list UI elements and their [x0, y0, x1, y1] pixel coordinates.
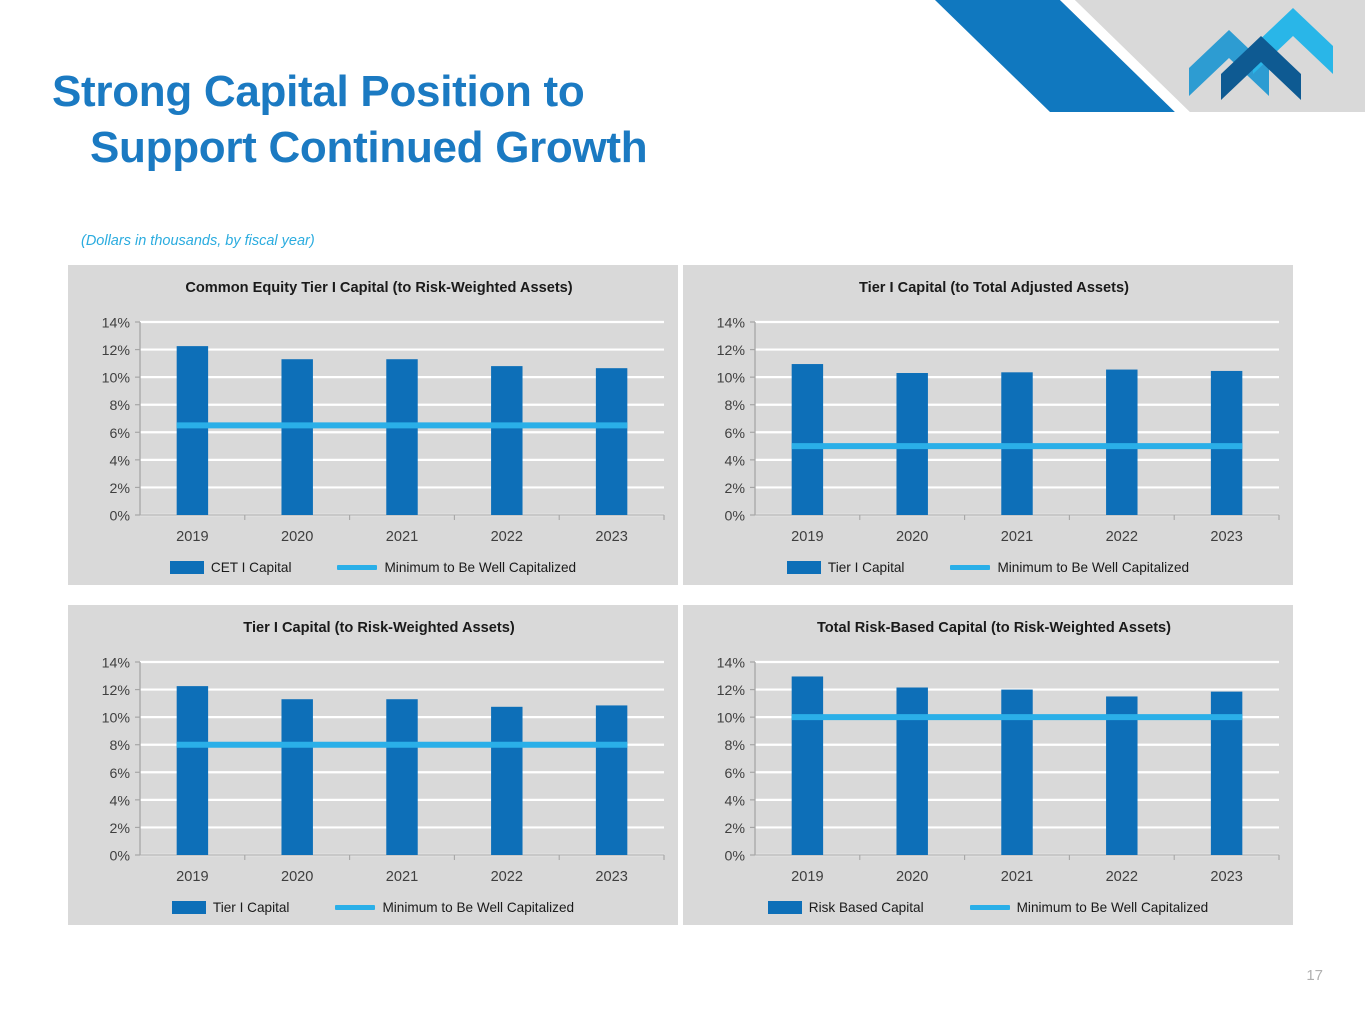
legend-item-bar-series[interactable]: Tier I Capital — [787, 560, 905, 575]
chart-bar — [386, 699, 417, 855]
chart-panel-total-risk-based: Total Risk-Based Capital (to Risk-Weight… — [683, 605, 1293, 925]
x-axis-category-label: 2023 — [1210, 529, 1242, 545]
y-axis-tick-label: 14% — [102, 316, 131, 332]
chart-legend: Tier I CapitalMinimum to Be Well Capital… — [683, 560, 1293, 575]
legend-bar-label: Risk Based Capital — [809, 900, 924, 915]
chart-bar — [281, 359, 312, 515]
legend-bar-swatch-icon — [768, 901, 802, 914]
company-logo — [1187, 6, 1337, 102]
chart-bar — [792, 676, 823, 855]
chart-bar — [792, 364, 823, 515]
legend-line-label: Minimum to Be Well Capitalized — [1017, 900, 1209, 915]
y-axis-tick-label: 0% — [724, 509, 745, 525]
y-axis-tick-label: 4% — [109, 793, 130, 809]
y-axis-tick-label: 8% — [109, 398, 130, 414]
chart-plot-area: 0%2%4%6%8%10%12%14%20192020202120222023 — [683, 265, 1293, 585]
chart-legend: CET I CapitalMinimum to Be Well Capitali… — [68, 560, 678, 575]
x-axis-category-label: 2020 — [896, 869, 928, 885]
y-axis-tick-label: 14% — [717, 316, 746, 332]
chart-bar — [1211, 371, 1242, 515]
legend-item-bar-series[interactable]: Tier I Capital — [172, 900, 290, 915]
y-axis-tick-label: 10% — [717, 711, 746, 727]
x-axis-category-label: 2019 — [176, 529, 208, 545]
legend-item-threshold-series[interactable]: Minimum to Be Well Capitalized — [950, 560, 1189, 575]
y-axis-tick-label: 0% — [109, 509, 130, 525]
y-axis-tick-label: 6% — [109, 426, 130, 442]
chart-legend: Tier I CapitalMinimum to Be Well Capital… — [68, 900, 678, 915]
y-axis-tick-label: 12% — [717, 343, 746, 359]
page-title: Strong Capital Position to Support Conti… — [52, 64, 872, 177]
legend-bar-label: CET I Capital — [211, 560, 292, 575]
chart-bar — [596, 705, 627, 855]
y-axis-tick-label: 6% — [109, 766, 130, 782]
chart-legend: Risk Based CapitalMinimum to Be Well Cap… — [683, 900, 1293, 915]
y-axis-tick-label: 14% — [102, 656, 131, 672]
y-axis-tick-label: 6% — [724, 766, 745, 782]
x-axis-category-label: 2021 — [1001, 529, 1033, 545]
legend-item-threshold-series[interactable]: Minimum to Be Well Capitalized — [970, 900, 1209, 915]
y-axis-tick-label: 10% — [102, 371, 131, 387]
chart-plot-area: 0%2%4%6%8%10%12%14%20192020202120222023 — [68, 605, 678, 925]
x-axis-category-label: 2019 — [176, 869, 208, 885]
y-axis-tick-label: 12% — [102, 343, 131, 359]
legend-line-swatch-icon — [970, 905, 1010, 910]
legend-line-label: Minimum to Be Well Capitalized — [382, 900, 574, 915]
chart-panel-cet1-risk-weighted: Common Equity Tier I Capital (to Risk-We… — [68, 265, 678, 585]
y-axis-tick-label: 10% — [717, 371, 746, 387]
chart-plot-area: 0%2%4%6%8%10%12%14%20192020202120222023 — [683, 605, 1293, 925]
x-axis-category-label: 2020 — [281, 869, 313, 885]
y-axis-tick-label: 10% — [102, 711, 131, 727]
x-axis-category-label: 2019 — [791, 529, 823, 545]
y-axis-tick-label: 0% — [109, 849, 130, 865]
x-axis-category-label: 2022 — [1106, 869, 1138, 885]
y-axis-tick-label: 2% — [109, 821, 130, 837]
y-axis-tick-label: 8% — [109, 738, 130, 754]
logo-chevrons-svg — [1187, 6, 1337, 102]
x-axis-category-label: 2021 — [1001, 869, 1033, 885]
x-axis-category-label: 2021 — [386, 529, 418, 545]
x-axis-category-label: 2023 — [595, 529, 627, 545]
chart-bar — [1106, 370, 1137, 515]
legend-bar-label: Tier I Capital — [828, 560, 905, 575]
chart-bar — [596, 368, 627, 515]
legend-line-swatch-icon — [335, 905, 375, 910]
y-axis-tick-label: 4% — [109, 453, 130, 469]
x-axis-category-label: 2022 — [491, 529, 523, 545]
units-subtitle: (Dollars in thousands, by fiscal year) — [81, 233, 315, 249]
chart-bar — [281, 699, 312, 855]
y-axis-tick-label: 8% — [724, 398, 745, 414]
y-axis-tick-label: 0% — [724, 849, 745, 865]
x-axis-category-label: 2022 — [1106, 529, 1138, 545]
page-number: 17 — [1306, 967, 1323, 984]
chart-bar — [491, 366, 522, 515]
title-line-2: Support Continued Growth — [52, 120, 872, 176]
legend-line-label: Minimum to Be Well Capitalized — [997, 560, 1189, 575]
chart-bar — [386, 359, 417, 515]
chart-bar — [896, 688, 927, 855]
y-axis-tick-label: 12% — [717, 683, 746, 699]
chart-bar — [491, 707, 522, 855]
x-axis-category-label: 2023 — [1210, 869, 1242, 885]
y-axis-tick-label: 2% — [724, 481, 745, 497]
legend-item-threshold-series[interactable]: Minimum to Be Well Capitalized — [337, 560, 576, 575]
chart-bar — [177, 346, 208, 515]
chart-bar — [177, 686, 208, 855]
legend-bar-label: Tier I Capital — [213, 900, 290, 915]
chart-panel-tier1-total-adjusted: Tier I Capital (to Total Adjusted Assets… — [683, 265, 1293, 585]
x-axis-category-label: 2020 — [896, 529, 928, 545]
chart-bar — [1106, 696, 1137, 855]
legend-line-swatch-icon — [950, 565, 990, 570]
y-axis-tick-label: 14% — [717, 656, 746, 672]
x-axis-category-label: 2021 — [386, 869, 418, 885]
y-axis-tick-label: 4% — [724, 453, 745, 469]
legend-item-bar-series[interactable]: Risk Based Capital — [768, 900, 924, 915]
x-axis-category-label: 2022 — [491, 869, 523, 885]
title-line-1: Strong Capital Position to — [52, 67, 584, 116]
legend-line-swatch-icon — [337, 565, 377, 570]
y-axis-tick-label: 2% — [724, 821, 745, 837]
y-axis-tick-label: 4% — [724, 793, 745, 809]
legend-line-label: Minimum to Be Well Capitalized — [384, 560, 576, 575]
x-axis-category-label: 2019 — [791, 869, 823, 885]
chart-panel-tier1-risk-weighted: Tier I Capital (to Risk-Weighted Assets)… — [68, 605, 678, 925]
chart-plot-area: 0%2%4%6%8%10%12%14%20192020202120222023 — [68, 265, 678, 585]
x-axis-category-label: 2023 — [595, 869, 627, 885]
legend-bar-swatch-icon — [170, 561, 204, 574]
y-axis-tick-label: 2% — [109, 481, 130, 497]
legend-bar-swatch-icon — [787, 561, 821, 574]
charts-grid: Common Equity Tier I Capital (to Risk-We… — [68, 265, 1294, 925]
legend-item-threshold-series[interactable]: Minimum to Be Well Capitalized — [335, 900, 574, 915]
y-axis-tick-label: 6% — [724, 426, 745, 442]
y-axis-tick-label: 12% — [102, 683, 131, 699]
y-axis-tick-label: 8% — [724, 738, 745, 754]
legend-item-bar-series[interactable]: CET I Capital — [170, 560, 292, 575]
legend-bar-swatch-icon — [172, 901, 206, 914]
x-axis-category-label: 2020 — [281, 529, 313, 545]
